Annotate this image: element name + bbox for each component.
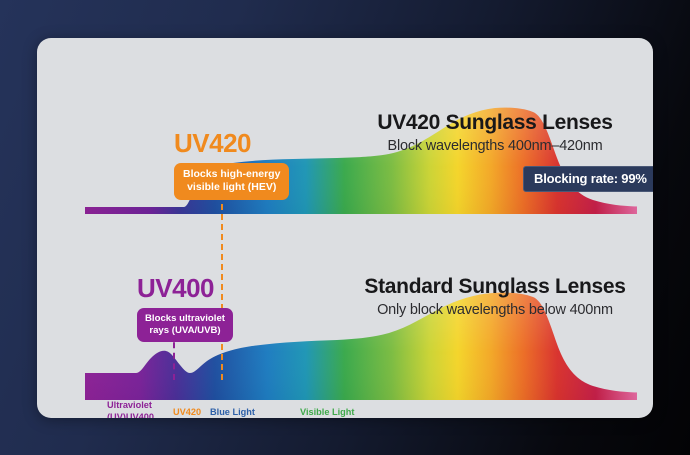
legend-ultraviolet-line1: Ultraviolet	[107, 400, 154, 412]
uv420-pill-line2: visible light (HEV)	[183, 181, 280, 194]
legend-ultraviolet: Ultraviolet (UV)UV400	[107, 400, 154, 418]
legend-visible-light: Visible Light	[300, 407, 354, 418]
standard-spectrum-svg	[37, 228, 653, 418]
standard-spectrum-chart	[37, 228, 653, 418]
uv400-pill-line1: Blocks ultraviolet	[145, 313, 225, 325]
infographic-card: UV420 Sunglass Lenses Block wavelengths …	[37, 38, 653, 418]
uv420-callout-pill: Blocks high-energy visible light (HEV)	[174, 163, 289, 200]
uv420-panel-heading: UV420 Sunglass Lenses Block wavelengths …	[330, 111, 653, 154]
uv400-callout-heading: UV400	[137, 275, 233, 301]
blocking-rate-badge: Blocking rate: 99%	[523, 166, 653, 192]
uv400-callout-pill: Blocks ultraviolet rays (UVA/UVB)	[137, 308, 233, 342]
uv420-subtitle: Block wavelengths 400nm–420nm	[330, 138, 653, 154]
legend-blue-light: Blue Light	[210, 407, 255, 418]
spectrum-legend: Ultraviolet (UV)UV400 UV420 Blue Light V…	[37, 400, 653, 418]
uv400-pill-line2: rays (UVA/UVB)	[145, 325, 225, 337]
uv400-callout: UV400 Blocks ultraviolet rays (UVA/UVB)	[137, 275, 233, 342]
uv420-callout-heading: UV420	[174, 130, 289, 156]
legend-ultraviolet-line2: (UV)UV400	[107, 412, 154, 419]
legend-uv420: UV420	[173, 407, 201, 418]
standard-panel-heading: Standard Sunglass Lenses Only block wave…	[330, 275, 653, 318]
standard-subtitle: Only block wavelengths below 400nm	[330, 302, 653, 318]
screenshot-stage: UV420 Sunglass Lenses Block wavelengths …	[0, 0, 690, 455]
uv420-title: UV420 Sunglass Lenses	[330, 111, 653, 135]
uv420-callout: UV420 Blocks high-energy visible light (…	[174, 130, 289, 200]
standard-title: Standard Sunglass Lenses	[330, 275, 653, 299]
uv420-pill-line1: Blocks high-energy	[183, 168, 280, 181]
